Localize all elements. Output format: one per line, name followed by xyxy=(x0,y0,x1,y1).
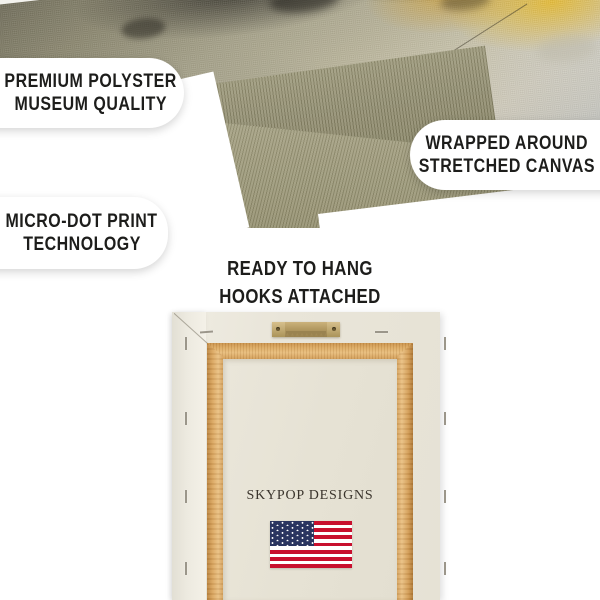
flag-stripe xyxy=(270,557,352,561)
hanger-sawtooth-teeth xyxy=(286,331,326,337)
badge-line-1: PREMIUM POLYSTER xyxy=(5,70,177,93)
sawtooth-hanger-icon xyxy=(272,322,340,337)
staple xyxy=(444,337,446,350)
heading-line-2: HOOKS ATTACHED xyxy=(48,283,552,311)
artwork-texture-speck xyxy=(268,0,340,16)
hanger-screw-hole-left xyxy=(276,327,280,331)
staple xyxy=(185,562,187,575)
brand-name: SKYPOP DESIGNS xyxy=(223,488,397,504)
badge-line-1: WRAPPED AROUND xyxy=(426,132,589,155)
flag-stripe xyxy=(270,564,352,568)
wood-grain-texture xyxy=(207,343,413,359)
artwork-texture-speck xyxy=(535,32,598,65)
staple xyxy=(185,490,187,503)
product-infographic: PREMIUM POLYSTER MUSEUM QUALITY WRAPPED … xyxy=(0,0,600,600)
wood-grain-texture xyxy=(397,343,413,600)
staple xyxy=(375,331,388,333)
staple xyxy=(444,490,446,503)
artwork-texture-speck xyxy=(120,16,166,41)
badge-line-2: TECHNOLOGY xyxy=(23,233,141,256)
heading-line-1: READY TO HANG xyxy=(48,255,552,283)
flag-canton xyxy=(270,521,314,546)
artwork-texture-speck xyxy=(439,0,491,13)
flag-stripe xyxy=(270,550,352,554)
ready-to-hang-heading: READY TO HANG HOOKS ATTACHED xyxy=(0,255,600,311)
flag-stars xyxy=(270,521,314,546)
stretcher-bar-right xyxy=(397,343,413,600)
badge-premium-polyster: PREMIUM POLYSTER MUSEUM QUALITY xyxy=(0,58,184,128)
badge-line-1: MICRO-DOT PRINT xyxy=(6,210,158,233)
united-states-flag-icon xyxy=(270,521,352,568)
badge-wrapped-around: WRAPPED AROUND STRETCHED CANVAS xyxy=(410,120,600,190)
staple xyxy=(185,337,187,350)
staple xyxy=(444,562,446,575)
staple xyxy=(444,412,446,425)
badge-line-2: STRETCHED CANVAS xyxy=(419,155,595,178)
wood-grain-texture xyxy=(207,343,223,600)
stretcher-bar-top xyxy=(207,343,413,359)
badge-line-2: MUSEUM QUALITY xyxy=(15,93,167,116)
hanger-screw-hole-right xyxy=(332,327,336,331)
stretcher-bar-left xyxy=(207,343,223,600)
staple xyxy=(185,412,187,425)
